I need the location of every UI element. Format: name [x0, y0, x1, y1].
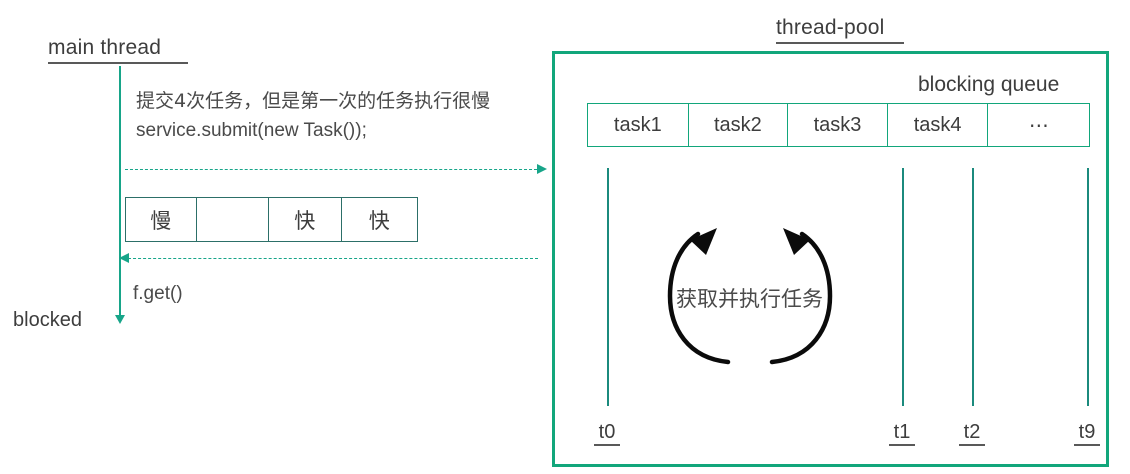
blocked-label: blocked	[13, 309, 82, 332]
main-thread-task-strip: 慢 快 快	[125, 197, 418, 242]
submit-note-line-2: service.submit(new Task());	[136, 120, 367, 142]
worker-label-t1: t1	[885, 421, 919, 444]
blocking-queue-strip: task1 task2 task3 task4 ⋯	[587, 103, 1090, 147]
main-thread-task-cell: 慢	[126, 198, 197, 241]
main-thread-title-underline	[48, 62, 188, 64]
worker-label-t0: t0	[590, 421, 624, 444]
main-thread-lifeline	[119, 66, 121, 317]
worker-label-t1-underline	[889, 444, 915, 446]
main-thread-title: main thread	[48, 36, 161, 60]
loop-arrow-head-left	[690, 228, 717, 255]
worker-label-t2: t2	[955, 421, 989, 444]
queue-task-cell: task1	[588, 104, 689, 146]
worker-thread-line-t0	[607, 168, 609, 406]
submit-message-arrowhead	[537, 164, 547, 174]
main-thread-task-cell	[197, 198, 270, 241]
queue-task-cell-ellipsis: ⋯	[988, 104, 1089, 146]
loop-label: 获取并执行任务	[676, 283, 823, 313]
queue-task-cell: task4	[888, 104, 989, 146]
worker-label-t0-underline	[594, 444, 620, 446]
main-thread-lifeline-arrowhead	[115, 315, 125, 324]
worker-thread-line-t1	[902, 168, 904, 406]
submit-note-line-1: 提交4次任务，但是第一次的任务执行很慢	[136, 86, 490, 113]
main-thread-task-cell: 快	[342, 198, 417, 241]
loop-arrow-head-right	[783, 228, 810, 255]
result-message-line	[128, 258, 538, 259]
submit-message-line	[125, 169, 537, 170]
main-thread-task-cell: 快	[269, 198, 342, 241]
worker-thread-line-t9	[1087, 168, 1089, 406]
future-get-label: f.get()	[133, 283, 183, 305]
queue-task-cell: task3	[788, 104, 888, 146]
queue-task-cell: task2	[689, 104, 789, 146]
worker-label-t9-underline	[1074, 444, 1100, 446]
diagram-canvas: main thread 提交4次任务，但是第一次的任务执行很慢 service.…	[0, 0, 1130, 474]
worker-label-t9: t9	[1070, 421, 1104, 444]
thread-pool-title: thread-pool	[776, 16, 884, 40]
worker-label-t2-underline	[959, 444, 985, 446]
thread-pool-title-underline	[776, 42, 904, 44]
result-message-arrowhead	[119, 253, 129, 263]
worker-thread-line-t2	[972, 168, 974, 406]
blocking-queue-label: blocking queue	[918, 73, 1059, 97]
